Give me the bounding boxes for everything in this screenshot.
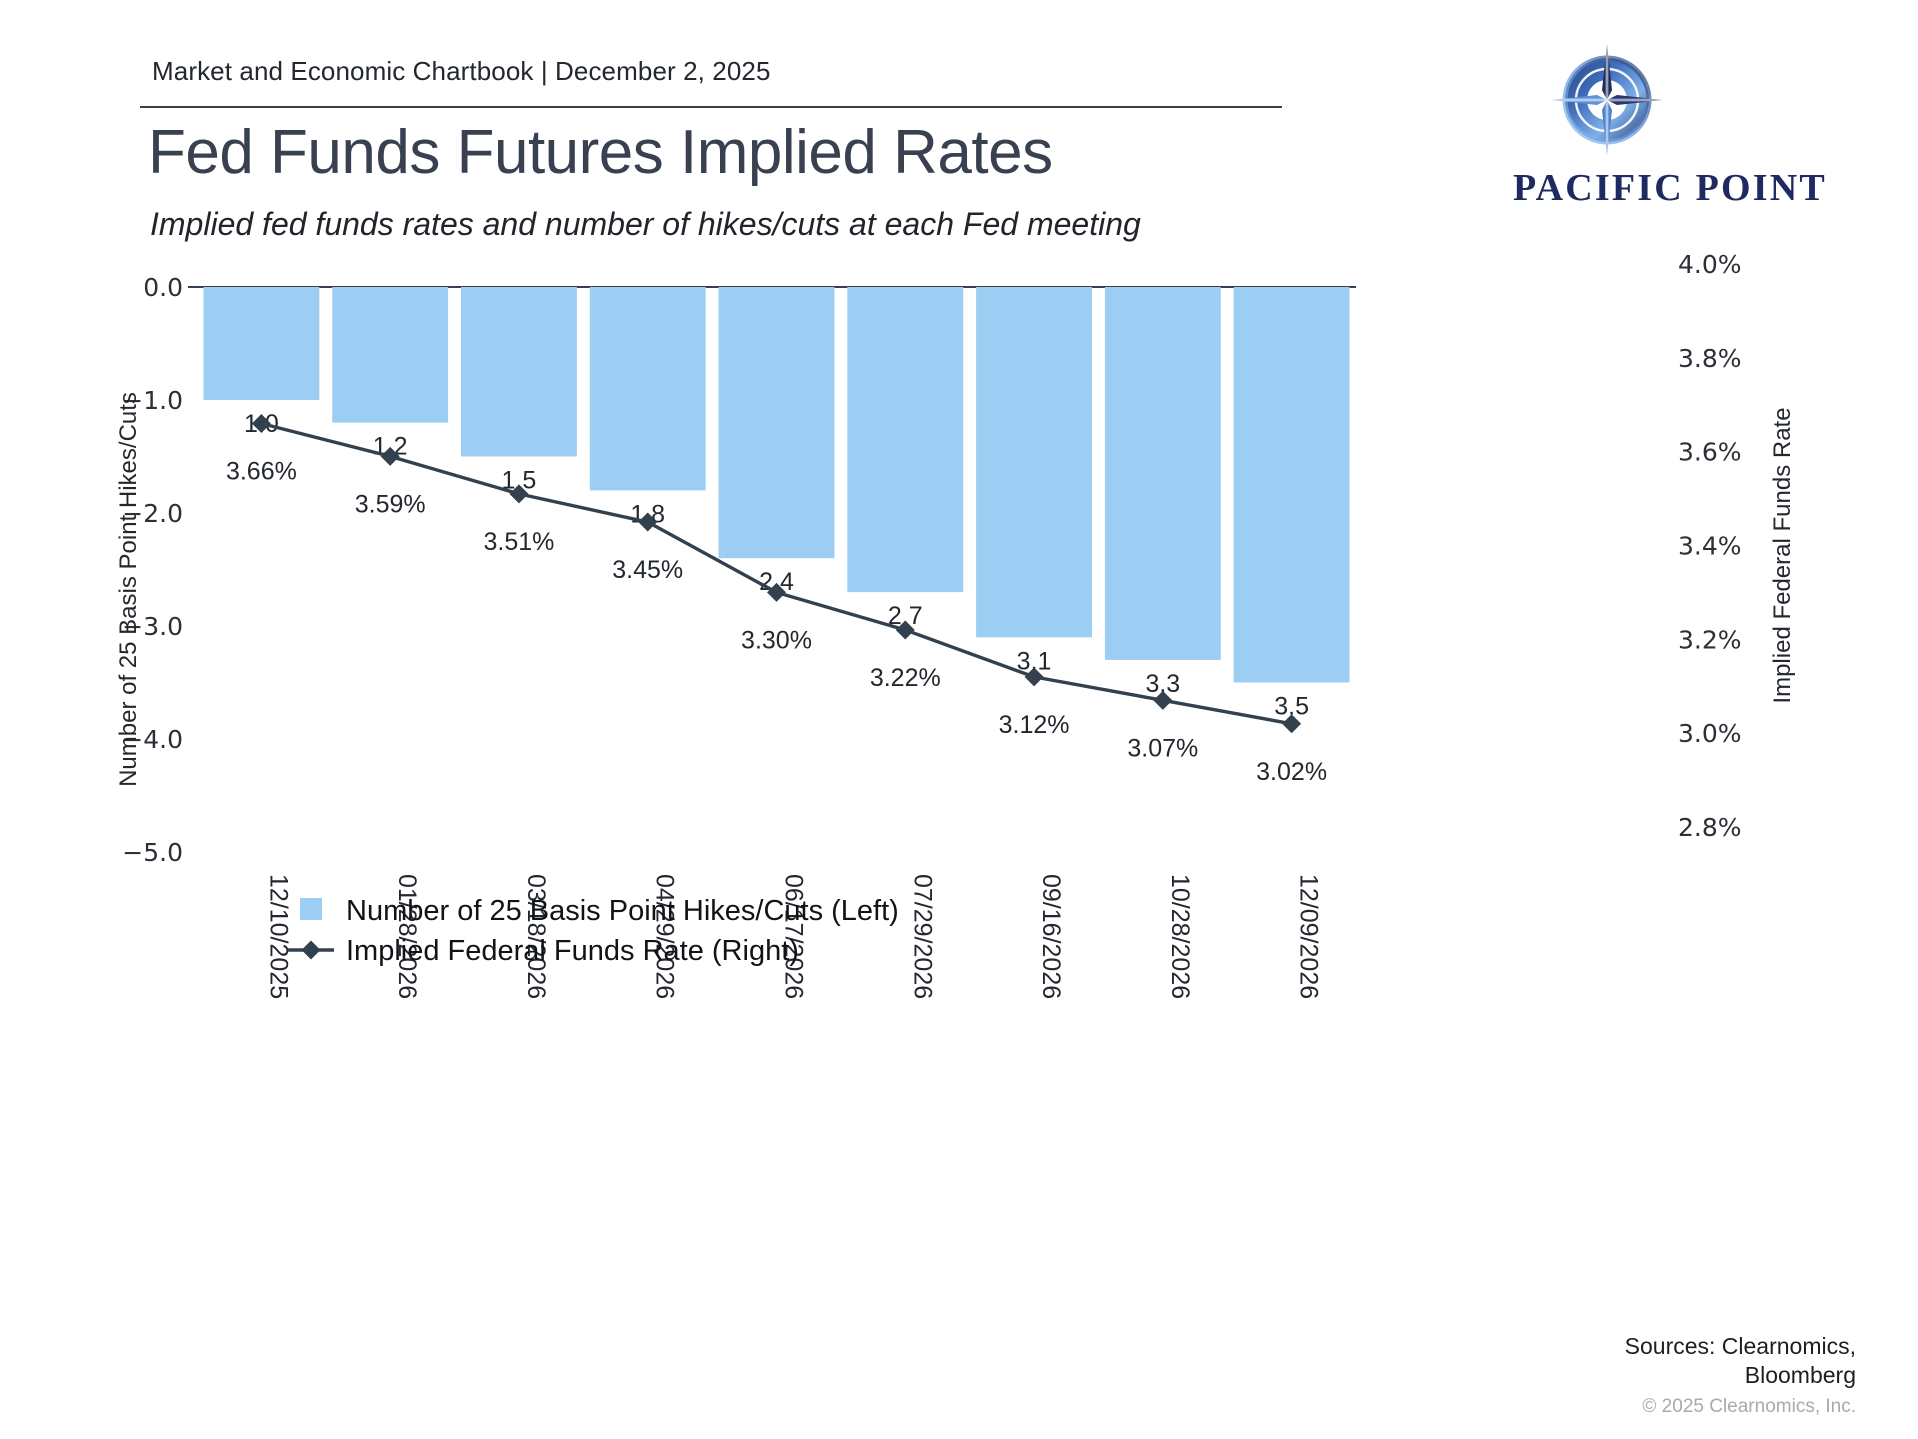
bar: [332, 287, 448, 423]
y-axis-tick-right: 3.4%: [1678, 532, 1742, 561]
y-axis-label-right: Implied Federal Funds Rate: [1769, 407, 1796, 703]
rate-value-label: 3.51%: [483, 528, 554, 556]
sources-note: Sources: Clearnomics, Bloomberg: [1436, 1332, 1856, 1391]
chart-container: 0.0−1.0−2.0−3.0−4.0−5.04.0%3.8%3.6%3.4%3…: [0, 230, 1918, 1250]
legend-label-bars: Number of 25 Basis Point Hikes/Cuts (Lef…: [346, 895, 899, 927]
brand-name: PACIFIC POINT: [1470, 166, 1870, 210]
x-axis-tick-label: 09/16/2026: [1037, 874, 1065, 999]
bar: [1234, 287, 1350, 683]
y-axis-tick-left: 0.0: [143, 273, 183, 302]
y-axis-tick-left: −5.0: [122, 838, 183, 867]
rate-value-label: 3.66%: [226, 458, 297, 486]
y-axis-tick-right: 3.6%: [1678, 438, 1742, 467]
legend-swatch-bars: [300, 898, 322, 920]
chartbook-kicker: Market and Economic Chartbook | December…: [152, 56, 771, 87]
brand-logo: PACIFIC POINT: [1470, 38, 1870, 208]
y-axis-tick-right: 3.2%: [1678, 625, 1742, 654]
y-axis-tick-right: 3.0%: [1678, 719, 1742, 748]
chart-page: Market and Economic Chartbook | December…: [0, 0, 1918, 1439]
copyright-note: © 2025 Clearnomics, Inc.: [1436, 1396, 1856, 1418]
rate-value-label: 3.30%: [741, 626, 812, 654]
bar: [847, 287, 963, 592]
x-axis-tick-label: 12/10/2025: [264, 874, 292, 999]
compass-target-icon: [1545, 38, 1670, 160]
y-axis-tick-right: 4.0%: [1678, 250, 1742, 279]
x-axis-tick-label: 10/28/2026: [1166, 874, 1194, 999]
rate-value-label: 3.02%: [1256, 758, 1327, 786]
rate-value-label: 3.45%: [612, 556, 683, 584]
y-axis-tick-right: 2.8%: [1678, 813, 1742, 842]
legend-label-line: Implied Federal Funds Rate (Right): [346, 935, 799, 967]
fed-funds-futures-chart: 0.0−1.0−2.0−3.0−4.0−5.04.0%3.8%3.6%3.4%3…: [0, 230, 1918, 1250]
bar: [976, 287, 1092, 637]
rate-value-label: 3.22%: [870, 664, 941, 692]
bar: [590, 287, 706, 490]
bar: [1105, 287, 1221, 660]
sources-line-1: Sources: Clearnomics,: [1625, 1333, 1856, 1359]
x-axis-tick-label: 12/09/2026: [1295, 874, 1323, 999]
page-title: Fed Funds Futures Implied Rates: [148, 120, 1053, 185]
x-axis-tick-label: 07/29/2026: [908, 874, 936, 999]
bar: [719, 287, 835, 558]
rate-value-label: 3.59%: [355, 490, 426, 518]
rate-value-label: 3.07%: [1127, 734, 1198, 762]
bar: [203, 287, 319, 400]
legend-swatch-line-marker: [302, 941, 321, 960]
y-axis-label-left: Number of 25 Basis Point Hikes/Cuts: [115, 392, 142, 787]
bar: [461, 287, 577, 457]
header-divider: [140, 106, 1282, 108]
y-axis-tick-right: 3.8%: [1678, 344, 1742, 373]
sources-line-2: Bloomberg: [1745, 1362, 1856, 1388]
rate-value-label: 3.12%: [999, 711, 1070, 739]
